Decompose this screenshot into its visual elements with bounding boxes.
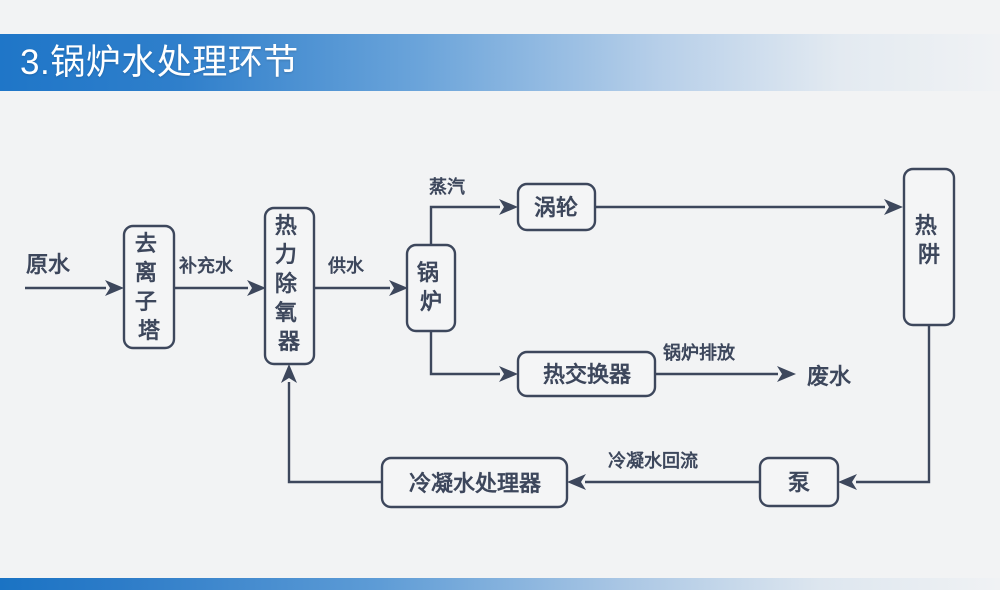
edge-pump-to-condensate xyxy=(567,474,760,490)
edge-turbine-to-heatsink xyxy=(595,199,903,215)
label-waste-water: 废水 xyxy=(807,364,852,389)
node-pump[interactable]: 泵 xyxy=(760,458,838,506)
node-turbine[interactable]: 涡轮 xyxy=(518,184,595,230)
edge-raw-water-to-deionizer xyxy=(25,280,124,296)
node-heat-exchanger-label: 热交换器 xyxy=(543,362,632,387)
page-title: 3.锅炉水处理环节 xyxy=(20,34,299,91)
label-raw-water: 原水 xyxy=(26,252,71,277)
footer-band xyxy=(0,578,1000,590)
node-deaerator[interactable]: 热 力 除 氧 器 xyxy=(265,208,314,364)
node-heat-exchanger[interactable]: 热交换器 xyxy=(518,352,655,396)
label-makeup-water: 补充水 xyxy=(178,255,234,276)
node-turbine-label: 涡轮 xyxy=(534,195,578,220)
node-deaerator-label: 热 力 除 氧 器 xyxy=(274,213,303,354)
slide-page: 3.锅炉水处理环节 xyxy=(0,0,1000,590)
label-steam: 蒸汽 xyxy=(429,176,465,197)
node-condensate-processor[interactable]: 冷凝水处理器 xyxy=(382,458,567,507)
edge-deaerator-to-boiler xyxy=(315,280,408,296)
edge-deionizer-to-deaerator xyxy=(174,280,266,296)
edge-exchanger-to-wastewater xyxy=(655,366,796,382)
boiler-water-treatment-flowchart: 去 离 子 塔 热 力 除 氧 器 xyxy=(0,100,1000,570)
edge-boiler-to-turbine-steam xyxy=(431,199,518,245)
node-boiler[interactable]: 锅 炉 xyxy=(407,245,455,331)
label-boiler-blowdown: 锅炉排放 xyxy=(663,342,736,363)
edge-condensate-to-deaerator xyxy=(281,364,382,482)
edge-heatsink-to-pump xyxy=(838,325,929,490)
label-condensate-return: 冷凝水回流 xyxy=(608,450,698,471)
node-pump-label: 泵 xyxy=(788,470,810,495)
node-heat-sink[interactable]: 热 阱 xyxy=(904,169,954,325)
node-condensate-processor-label: 冷凝水处理器 xyxy=(409,471,542,496)
label-feed-water: 供水 xyxy=(327,255,365,276)
node-deionizer[interactable]: 去 离 子 塔 xyxy=(124,226,174,348)
edge-boiler-to-exchanger xyxy=(431,330,518,382)
